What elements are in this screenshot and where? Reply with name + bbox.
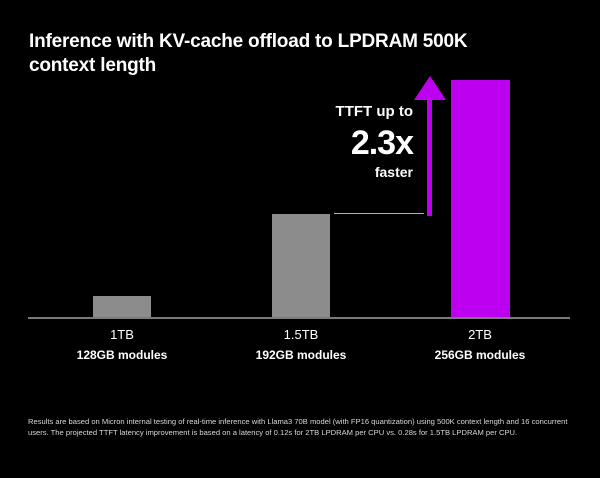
callout-top-label: TTFT up to: [240, 103, 413, 121]
x-axis-line: [28, 317, 570, 319]
bar-2tb: [451, 80, 510, 318]
category-name: 2TB: [400, 327, 560, 343]
ttft-callout: TTFT up to 2.3x faster: [240, 103, 413, 181]
bar-chart: TTFT up to 2.3x faster 1TB 128GB modules…: [0, 0, 600, 478]
bar-1-5tb: [272, 214, 330, 318]
slide-canvas: Inference with KV-cache offload to LPDRA…: [0, 0, 600, 478]
category-name: 1TB: [42, 327, 202, 343]
callout-value: 2.3x: [240, 124, 413, 162]
category-name: 1.5TB: [221, 327, 381, 343]
category-sublabel: 192GB modules: [221, 348, 381, 363]
x-tick-label-1-5tb: 1.5TB 192GB modules: [221, 327, 381, 363]
arrow-shaft: [427, 92, 432, 216]
up-arrow-icon: [414, 76, 446, 216]
x-tick-label-1tb: 1TB 128GB modules: [42, 327, 202, 363]
comparison-leader-line: [334, 213, 424, 214]
footnote-text: Results are based on Micron internal tes…: [28, 417, 576, 438]
category-sublabel: 128GB modules: [42, 348, 202, 363]
x-tick-label-2tb: 2TB 256GB modules: [400, 327, 560, 363]
bar-1tb: [93, 296, 151, 318]
category-sublabel: 256GB modules: [400, 348, 560, 363]
callout-bottom-label: faster: [240, 164, 413, 181]
